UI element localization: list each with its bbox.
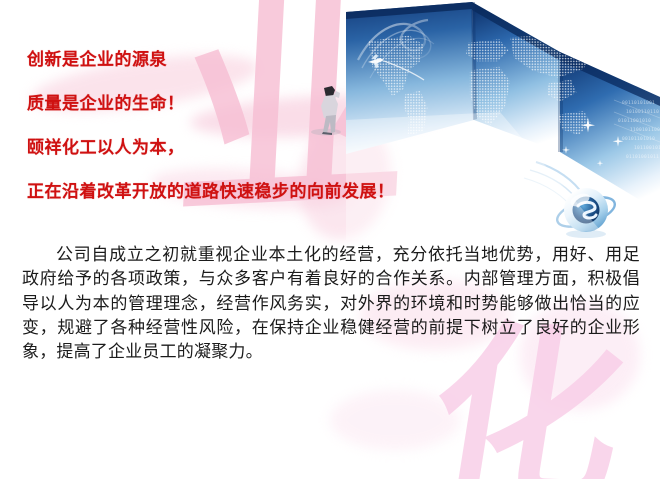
- headline-line-1: 创新是企业的源泉: [27, 52, 497, 69]
- sparkle-stars: [562, 118, 623, 166]
- svg-text:01101001011: 01101001011: [626, 154, 659, 160]
- svg-text:00110101001: 00110101001: [622, 100, 655, 106]
- svg-text:11001011001: 11001011001: [630, 127, 660, 133]
- brush-smudge: [330, 390, 460, 450]
- svg-text:10110010110: 10110010110: [634, 145, 660, 151]
- svg-text:10100110110: 10100110110: [626, 109, 659, 115]
- headline-block: 创新是企业的源泉 质量是企业的生命！ 颐祥化工以人为本， 正在沿着改革开放的道路…: [27, 52, 497, 201]
- headline-line-2: 质量是企业的生命！: [27, 96, 497, 113]
- panel-right: [560, 52, 660, 212]
- headline-line-3: 颐祥化工以人为本，: [27, 140, 497, 157]
- light-swoosh: [524, 162, 584, 210]
- banner-canvas: 业 化: [0, 0, 660, 479]
- globe-orbit-icon: [554, 188, 618, 238]
- svg-text:01011001010: 01011001010: [618, 118, 651, 124]
- company-profile-paragraph: 公司自成立之初就重视企业本土化的经营，充分依托当地优势，用好、用足政府给予的各项…: [22, 243, 640, 364]
- binary-stripes: 00110101001 10100110110 01011001010 1100…: [614, 100, 660, 160]
- headline-line-4: 正在沿着改革开放的道路快速稳步的向前发展！: [27, 184, 497, 201]
- svg-text:00101101010: 00101101010: [622, 136, 655, 142]
